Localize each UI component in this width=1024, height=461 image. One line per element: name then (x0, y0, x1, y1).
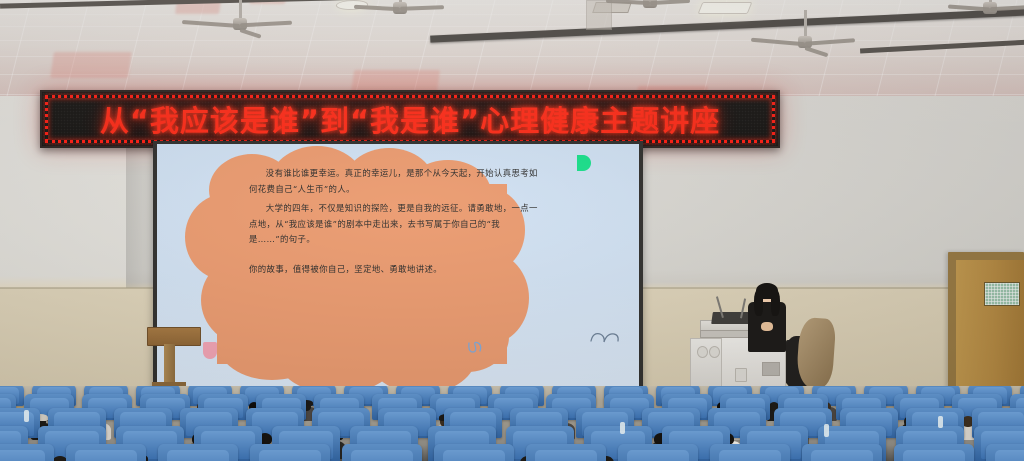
ceiling-fan-2 (340, 0, 460, 14)
slide-paragraph-2: 大学的四年，不仅是知识的探险，更是自我的远征。请勇敢地，一点一点地，从“我应该是… (249, 201, 539, 248)
ceiling-fan-3 (590, 0, 710, 12)
ceiling-fan-1 (170, 0, 310, 38)
podium-cabinet-handle (762, 362, 780, 376)
podium-emblem-1 (697, 346, 708, 358)
projected-slide: 没有谁比谁更幸运。真正的幸运儿，是那个从今天起，开始认真思考如何花费自己“人生币… (157, 144, 639, 390)
ceiling-fan-4 (740, 10, 870, 56)
lecture-hall-photo: 从“我应该是谁”到“我是谁”心理健康主题讲座 没有谁比谁更幸运。真正的幸运儿，是… (0, 0, 1024, 461)
speaker-hands (761, 322, 773, 331)
blue-doodle-left-icon (465, 340, 487, 356)
podium-emblem-2 (709, 346, 720, 358)
blue-doodle-right-icon (589, 330, 621, 346)
door-window-icon (984, 282, 1020, 306)
slide-closing-line: 你的故事，值得被你自己，坚定地、勇敢地讲述。 (249, 262, 539, 278)
slide-text-block: 没有谁比谁更幸运。真正的幸运儿，是那个从今天起，开始认真思考如何花费自己“人生币… (249, 166, 539, 281)
speaker-hair-left (754, 290, 763, 316)
ceiling-fan-5 (930, 0, 1024, 22)
audience-area (0, 386, 1024, 461)
led-banner: 从“我应该是谁”到“我是谁”心理健康主题讲座 (40, 90, 780, 148)
pink-shield-shape-icon (203, 342, 217, 359)
speaker-hair-right (771, 290, 780, 316)
led-banner-text: 从“我应该是谁”到“我是谁”心理健康主题讲座 (42, 98, 778, 140)
audience-seats-and-people (0, 386, 1024, 461)
podium-emblem-3 (735, 368, 747, 382)
slide-paragraph-1: 没有谁比谁更幸运。真正的幸运儿，是那个从今天起，开始认真思考如何花费自己“人生币… (249, 166, 539, 197)
